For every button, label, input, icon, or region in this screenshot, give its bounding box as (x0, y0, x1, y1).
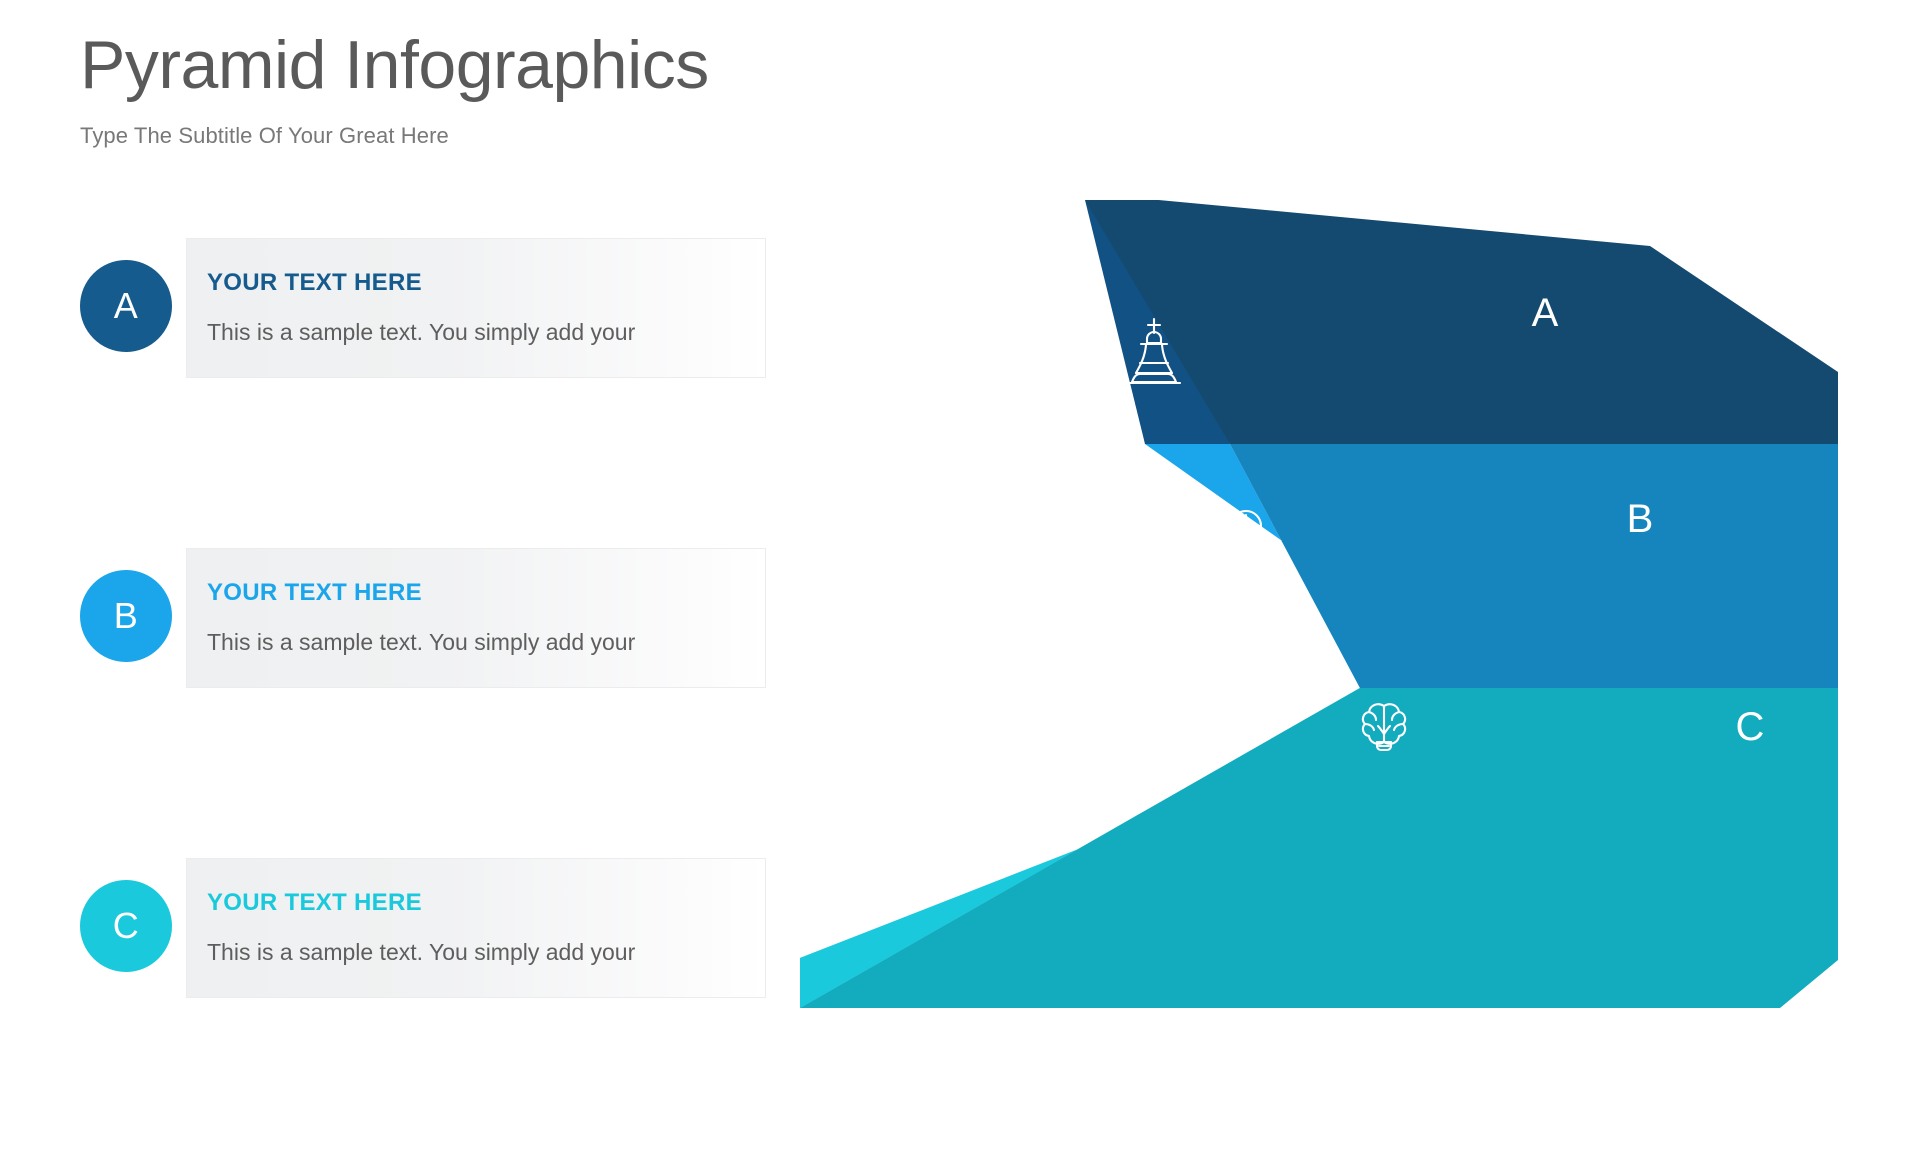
item-heading: YOUR TEXT HERE (207, 891, 765, 915)
pyramid-level-c-right-face[interactable] (800, 688, 1838, 1008)
list-item[interactable]: C YOUR TEXT HERE This is a sample text. … (0, 858, 800, 998)
money-plant-icon (1228, 511, 1264, 566)
page-subtitle: Type The Subtitle Of Your Great Here (80, 101, 980, 149)
pyramid-level-b-label: B (1627, 497, 1654, 541)
list-item[interactable]: B YOUR TEXT HERE This is a sample text. … (0, 548, 800, 688)
pyramid-diagram: A B C (800, 200, 1920, 1040)
item-badge-letter: A (114, 288, 139, 324)
item-badge-c[interactable]: C (80, 880, 172, 972)
item-body: This is a sample text. You simply add yo… (207, 605, 765, 654)
item-heading: YOUR TEXT HERE (207, 271, 765, 295)
page-title: Pyramid Infographics (80, 30, 980, 101)
pyramid-level-a-label: A (1532, 291, 1559, 335)
items-list: A YOUR TEXT HERE This is a sample text. … (0, 238, 800, 1168)
pyramid-level-b-right-face[interactable] (1230, 444, 1838, 688)
item-badge-letter: B (114, 598, 139, 634)
item-heading: YOUR TEXT HERE (207, 581, 765, 605)
header: Pyramid Infographics Type The Subtitle O… (80, 30, 980, 149)
item-card-b[interactable]: YOUR TEXT HERE This is a sample text. Yo… (186, 548, 766, 688)
pyramid-level-c-label: C (1736, 705, 1765, 749)
item-badge-a[interactable]: A (80, 260, 172, 352)
list-item[interactable]: A YOUR TEXT HERE This is a sample text. … (0, 238, 800, 378)
item-badge-b[interactable]: B (80, 570, 172, 662)
item-card-c[interactable]: YOUR TEXT HERE This is a sample text. Yo… (186, 858, 766, 998)
item-body: This is a sample text. You simply add yo… (207, 915, 765, 964)
item-card-a[interactable]: YOUR TEXT HERE This is a sample text. Yo… (186, 238, 766, 378)
item-body: This is a sample text. You simply add yo… (207, 295, 765, 344)
item-badge-letter: C (113, 908, 140, 944)
